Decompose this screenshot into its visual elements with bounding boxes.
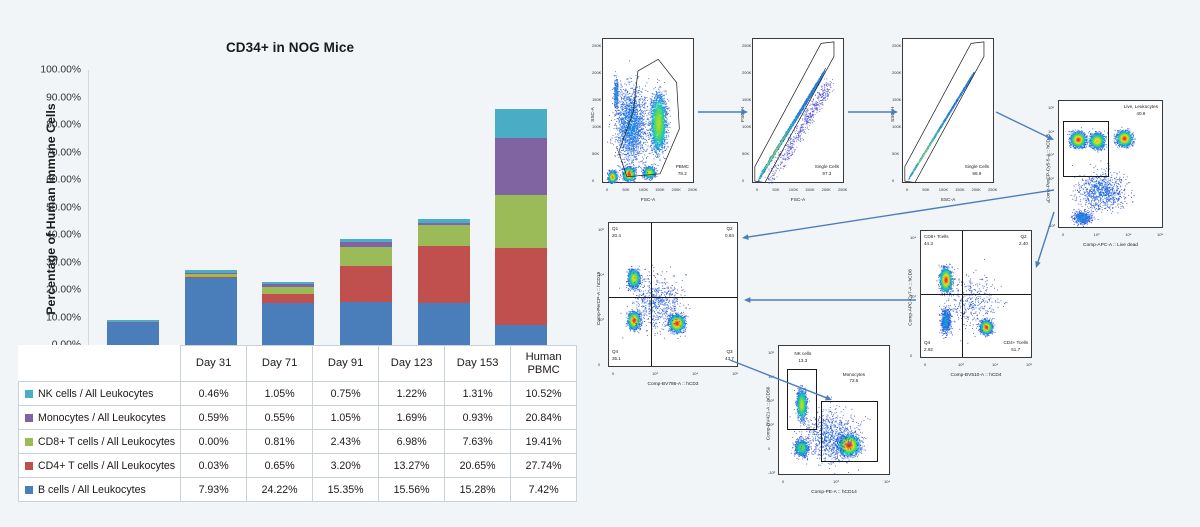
table-cell: 0.55% (247, 406, 313, 430)
gate-label-value: 78.2 (676, 171, 689, 178)
y-axis-tick-label: 10.00% (16, 312, 88, 323)
y-axis-tick-label: 80.00% (16, 120, 88, 131)
chart-and-table-panel: CD34+ in NOG Mice Percentage of Human Im… (0, 0, 580, 527)
x-axis-label: FSC-A (603, 198, 693, 203)
x-axis-tick: 10⁴ (1125, 232, 1131, 237)
bar-column[interactable] (249, 70, 327, 345)
table-column-header: Human PBMC (511, 346, 577, 382)
quadrant-label: Q20.84 (725, 226, 734, 240)
y-axis-tick: 10⁵ (1048, 105, 1054, 110)
y-axis-tick: 200K (742, 70, 751, 75)
y-axis-tick: 10² (1048, 176, 1054, 181)
quadrant-label-value: 43.7 (725, 356, 734, 363)
x-axis-tick: 50K (922, 187, 929, 192)
quadrant-label: CD8+ Tcells44.3 (924, 234, 949, 248)
y-axis-tick-label: 40.00% (16, 230, 88, 241)
x-axis-tick: 250K (688, 187, 697, 192)
y-axis-tick: 10³ (1048, 152, 1054, 157)
legend-swatch-icon (25, 390, 33, 398)
y-axis-tick: 10⁵ (768, 350, 774, 355)
table-cell: 13.27% (379, 454, 445, 478)
x-axis-tick: 0 (782, 479, 784, 484)
y-axis-tick: 0 (742, 178, 744, 183)
x-axis-label: FSC-A (753, 198, 843, 203)
x-axis-tick: 100K (639, 187, 648, 192)
table-cell: 1.05% (247, 382, 313, 406)
table-cell: 7.63% (445, 430, 511, 454)
y-axis-tick: -10² (1048, 223, 1055, 228)
y-axis-tick: 10⁴ (598, 272, 604, 277)
table-cell: 3.20% (313, 454, 379, 478)
table-column-header: Day 153 (445, 346, 511, 382)
y-axis-tick: 200K (592, 70, 601, 75)
gate-polygon[interactable] (753, 39, 843, 182)
bar-column[interactable] (172, 70, 250, 345)
table-cell: 0.46% (181, 382, 247, 406)
quadrant-label: CD4+ Tcells51.7 (1003, 340, 1028, 354)
table-row-label: NK cells / All Leukocytes (19, 382, 181, 406)
table-cell: 7.42% (511, 478, 577, 502)
gate-polygon[interactable] (603, 39, 693, 182)
table-cell: 0.59% (181, 406, 247, 430)
gate-label: NK cells13.3 (794, 351, 811, 365)
quadrant-label-name: Q4 (924, 340, 933, 347)
x-axis-tick: 250K (988, 187, 997, 192)
table-cell: 1.05% (313, 406, 379, 430)
legend-swatch-icon (25, 486, 33, 494)
series-label: CD4+ T cells / All Leukocytes (38, 460, 175, 472)
y-axis-tick: 10⁴ (910, 235, 916, 240)
quadrant-label-name: Q3 (725, 349, 734, 356)
series-label: NK cells / All Leukocytes (38, 388, 153, 400)
y-axis-tick: 100K (742, 124, 751, 129)
quadrant-label-value: 0.84 (725, 233, 734, 240)
y-axis-tick: 0 (892, 178, 894, 183)
gate-label-name: Monocytes (843, 372, 865, 379)
bar-segment[interactable] (262, 303, 314, 345)
bar-segment[interactable] (340, 247, 392, 266)
gate-label-name: NK cells (794, 351, 811, 358)
gate-rectangle-monocytes[interactable] (821, 401, 878, 462)
flow-plot-pbmc[interactable]: PBMC78.2FSC-ASSC-A050K100K150K200K250K05… (602, 38, 694, 183)
bar-segment[interactable] (495, 138, 547, 195)
gate-polygon[interactable] (903, 39, 993, 182)
bar-segment[interactable] (185, 278, 237, 345)
y-axis-tick-label: 50.00% (16, 202, 88, 213)
x-axis-tick: 0 (924, 362, 926, 367)
table-cell: 0.03% (181, 454, 247, 478)
bar-segment[interactable] (262, 294, 314, 303)
gate-label-value: 40.9 (1124, 111, 1158, 118)
y-axis-tick-label: 20.00% (16, 285, 88, 296)
bar-segment[interactable] (340, 266, 392, 302)
x-axis-tick: 10³ (652, 371, 658, 376)
x-axis-tick: 10³ (833, 479, 839, 484)
x-axis-tick: 10⁴ (884, 479, 890, 484)
quadrant-label: Q343.7 (725, 349, 734, 363)
x-axis-tick: 10³ (1094, 232, 1100, 237)
table-cell: 0.00% (181, 430, 247, 454)
table-cell: 0.75% (313, 382, 379, 406)
gate-label-name: Single Cells (815, 164, 839, 171)
gate-label-value: 72.6 (843, 378, 865, 385)
y-axis-tick-label: 100.00% (16, 65, 88, 76)
table-cell: 0.93% (445, 406, 511, 430)
gate-label: Live, Leukocytes40.9 (1124, 104, 1158, 118)
bar-column[interactable] (327, 70, 405, 345)
x-axis-tick: 10⁵ (1157, 232, 1163, 237)
quadrant-label-name: Q1 (612, 226, 621, 233)
gate-label-value: 98.9 (965, 171, 989, 178)
quadrant-label-name: CD8+ Tcells (924, 234, 949, 241)
table-row-label: CD8+ T cells / All Leukocytes (19, 430, 181, 454)
gate-label: PBMC78.2 (676, 164, 689, 178)
y-axis-tick: 150K (892, 97, 901, 102)
quadrant-divider-horizontal (609, 297, 737, 298)
y-axis-tick: -10² (768, 470, 775, 475)
y-axis-tick: 10³ (598, 317, 604, 322)
quadrant-label-value: 2.92 (924, 347, 933, 354)
table-cell: 15.35% (313, 478, 379, 502)
scatter-plot-canvas (609, 223, 739, 368)
x-axis-tick: 10⁵ (1026, 362, 1032, 367)
y-axis-label: SSC-H (891, 42, 896, 187)
series-label: CD8+ T cells / All Leukocytes (38, 436, 175, 448)
y-axis-tick: 0 (910, 353, 912, 358)
y-axis-tick: 0 (592, 178, 594, 183)
bar-segment[interactable] (495, 325, 547, 345)
bar-segment[interactable] (418, 303, 470, 345)
y-axis-tick-label: 60.00% (16, 175, 88, 186)
y-axis-tick: 10⁴ (768, 374, 774, 379)
quadrant-label-name: Q2 (1019, 234, 1028, 241)
stacked-bar[interactable] (107, 320, 159, 345)
x-axis-tick: 10⁵ (732, 371, 738, 376)
gate-label: Single Cells97.3 (815, 164, 839, 178)
gate-label: Monocytes72.6 (843, 372, 865, 386)
quadrant-divider-vertical (651, 223, 652, 366)
quadrant-label-name: CD4+ Tcells (1003, 340, 1028, 347)
gate-rectangle-nk[interactable] (787, 369, 818, 430)
table-cell: 10.52% (511, 382, 577, 406)
table-cell: 2.43% (313, 430, 379, 454)
stacked-bar[interactable] (418, 219, 470, 345)
x-axis-tick: 150K (655, 187, 664, 192)
bar-segment[interactable] (495, 248, 547, 324)
x-axis-tick: 200K (972, 187, 981, 192)
quadrant-label-value: 51.7 (1003, 347, 1028, 354)
y-axis-label: FSC-H (741, 42, 746, 187)
y-axis-tick-label: 70.00% (16, 147, 88, 158)
bar-segment[interactable] (495, 109, 547, 138)
table-column-header: Day 31 (181, 346, 247, 382)
quadrant-label-value: 44.3 (924, 241, 949, 248)
x-axis-label: Comp-BV786-A :: hCD3 (609, 382, 737, 387)
table-cell: 0.81% (247, 430, 313, 454)
table-header-row: Day 31Day 71Day 91Day 123Day 153Human PB… (19, 346, 577, 382)
y-axis-tick: 150K (742, 97, 751, 102)
gate-label: Single Cells98.9 (965, 164, 989, 178)
table-cell: 1.31% (445, 382, 511, 406)
x-axis-tick: 150K (805, 187, 814, 192)
y-axis-tick: 250K (892, 43, 901, 48)
y-axis-tick: 10² (768, 422, 774, 427)
bar-column[interactable] (94, 70, 172, 345)
table-corner-cell (19, 346, 181, 382)
quadrant-label: Q435.1 (612, 349, 621, 363)
bar-segment[interactable] (107, 323, 159, 345)
y-axis-label: Comp-PerCP-Cy5-5-A :: hCD45 (1047, 104, 1052, 232)
x-axis-tick: 200K (822, 187, 831, 192)
table-row: B cells / All Leukocytes7.93%24.22%15.35… (19, 478, 577, 502)
x-axis-tick: 50K (772, 187, 779, 192)
table-cell: 1.22% (379, 382, 445, 406)
y-axis-tick: 0 (598, 362, 600, 367)
bar-segment[interactable] (495, 195, 547, 248)
quadrant-label-value: 2.40 (1019, 241, 1028, 248)
x-axis-label: Comp-PE-A :: hCD14 (779, 490, 889, 495)
y-axis-tick: 100K (892, 124, 901, 129)
table-column-header: Day 71 (247, 346, 313, 382)
table-row-label: B cells / All Leukocytes (19, 478, 181, 502)
y-axis-label: Comp-BV421-A :: hCD56 (767, 349, 772, 479)
table-cell: 20.84% (511, 406, 577, 430)
x-axis-tick: 10³ (958, 362, 964, 367)
y-axis-tick: 250K (592, 43, 601, 48)
x-axis-tick: 100K (939, 187, 948, 192)
bar-column[interactable] (405, 70, 483, 345)
bar-segment[interactable] (340, 302, 392, 345)
y-axis-label: SSC-A (591, 42, 596, 187)
table-body: NK cells / All Leukocytes0.46%1.05%0.75%… (19, 382, 577, 502)
gate-label-name: Live, Leukocytes (1124, 104, 1158, 111)
y-axis-tick: 50K (592, 151, 599, 156)
x-axis-tick: 0 (906, 187, 908, 192)
y-axis-tick: 250K (742, 43, 751, 48)
legend-swatch-icon (25, 438, 33, 446)
flow-plot-live-leukocytes[interactable]: Live, Leukocytes40.9Comp-APC-A :: Live d… (1058, 100, 1163, 228)
quadrant-label: Q22.40 (1019, 234, 1028, 248)
table-cell: 27.74% (511, 454, 577, 478)
y-axis-tick: 100K (592, 124, 601, 129)
y-axis-tick: 50K (742, 151, 749, 156)
y-axis-tick: 10³ (768, 398, 774, 403)
quadrant-label: Q42.92 (924, 340, 933, 354)
legend-swatch-icon (25, 462, 33, 470)
flow-plot-cd4-cd8[interactable]: CD8+ Tcells44.3Q22.40CD4+ Tcells51.7Q42.… (920, 230, 1032, 358)
flow-plot-singlecells-1[interactable]: Single Cells97.3FSC-AFSC-H050K100K150K20… (752, 38, 844, 183)
stacked-bar[interactable] (340, 239, 392, 345)
table-row-label: CD4+ T cells / All Leukocytes (19, 454, 181, 478)
y-axis-tick: 10⁴ (1048, 129, 1054, 134)
x-axis-tick: 0 (606, 187, 608, 192)
y-axis-tick: 0 (768, 446, 770, 451)
table-header: Day 31Day 71Day 91Day 123Day 153Human PB… (19, 346, 577, 382)
series-label: B cells / All Leukocytes (38, 484, 146, 496)
x-axis-tick: 50K (622, 187, 629, 192)
table-cell: 7.93% (181, 478, 247, 502)
table-cell: 1.69% (379, 406, 445, 430)
y-axis-tick-label: 30.00% (16, 257, 88, 268)
stacked-bar[interactable] (262, 282, 314, 345)
quadrant-label: Q120.4 (612, 226, 621, 240)
gate-label-name: PBMC (676, 164, 689, 171)
quadrant-label-value: 20.4 (612, 233, 621, 240)
quadrant-label-name: Q4 (612, 349, 621, 356)
table-cell: 15.28% (445, 478, 511, 502)
x-axis-label: Comp-BV510-A :: hCD4 (921, 373, 1031, 378)
gate-rectangle[interactable] (1063, 121, 1109, 176)
table-cell: 0.65% (247, 454, 313, 478)
y-axis-tick: 0 (1048, 199, 1050, 204)
table-row: NK cells / All Leukocytes0.46%1.05%0.75%… (19, 382, 577, 406)
table-cell: 20.65% (445, 454, 511, 478)
table-cell: 19.41% (511, 430, 577, 454)
y-axis-tick: 10⁵ (598, 227, 604, 232)
table-row: CD8+ T cells / All Leukocytes0.00%0.81%2… (19, 430, 577, 454)
quadrant-divider-horizontal (921, 294, 1031, 295)
quadrant-label-value: 35.1 (612, 356, 621, 363)
bar-segment[interactable] (262, 287, 314, 294)
bar-chart-plot-area (94, 70, 560, 345)
gate-label-value: 13.3 (794, 358, 811, 365)
gate-label-value: 97.3 (815, 171, 839, 178)
x-axis-label: SSC-A (903, 198, 993, 203)
y-axis-tick: 10³ (910, 294, 916, 299)
flow-plot-singlecells-2[interactable]: Single Cells98.9SSC-ASSC-H050K100K150K20… (902, 38, 994, 183)
bar-column[interactable] (482, 70, 560, 345)
x-axis-tick: 200K (672, 187, 681, 192)
table-column-header: Day 123 (379, 346, 445, 382)
bar-segment[interactable] (418, 246, 470, 303)
chart-title: CD34+ in NOG Mice (120, 40, 460, 55)
y-axis-tick: 200K (892, 70, 901, 75)
x-axis-label: Comp-APC-A :: Live dead (1059, 243, 1162, 248)
table-row: CD4+ T cells / All Leukocytes0.03%0.65%3… (19, 454, 577, 478)
x-axis-tick: 0 (756, 187, 758, 192)
y-axis-tick: 150K (592, 97, 601, 102)
y-axis-tick-label: 90.00% (16, 92, 88, 103)
flow-cytometry-panel: PBMC78.2FSC-ASSC-A050K100K150K200K250K05… (580, 0, 1200, 527)
x-axis-tick: 10⁴ (692, 371, 698, 376)
stacked-bar[interactable] (185, 270, 237, 345)
table-cell: 24.22% (247, 478, 313, 502)
x-axis-tick: 250K (838, 187, 847, 192)
table-cell: 15.56% (379, 478, 445, 502)
data-table: Day 31Day 71Day 91Day 123Day 153Human PB… (18, 345, 577, 502)
quadrant-label-name: Q2 (725, 226, 734, 233)
x-axis-tick: 0 (1062, 232, 1064, 237)
flow-plot-nk-monocytes[interactable]: NK cells13.3Monocytes72.6Comp-PE-A :: hC… (778, 345, 890, 475)
table-column-header: Day 91 (313, 346, 379, 382)
table-row: Monocytes / All Leukocytes0.59%0.55%1.05… (19, 406, 577, 430)
x-axis-tick: 10⁴ (992, 362, 998, 367)
x-axis-tick: 150K (955, 187, 964, 192)
gate-label-name: Single Cells (965, 164, 989, 171)
stacked-bar[interactable] (495, 109, 547, 345)
flow-plot-cd3-quadrant[interactable]: Q120.4Q20.84Q343.7Q435.1Comp-BV786-A :: … (608, 222, 738, 367)
table-row-label: Monocytes / All Leukocytes (19, 406, 181, 430)
bar-segment[interactable] (418, 225, 470, 246)
legend-swatch-icon (25, 414, 33, 422)
table-cell: 6.98% (379, 430, 445, 454)
x-axis-tick: 0 (612, 371, 614, 376)
series-label: Monocytes / All Leukocytes (38, 412, 166, 424)
x-axis-tick: 100K (789, 187, 798, 192)
y-axis-tick: 50K (892, 151, 899, 156)
y-axis-label: Comp-PerCP-A :: hCD19 (597, 226, 602, 371)
